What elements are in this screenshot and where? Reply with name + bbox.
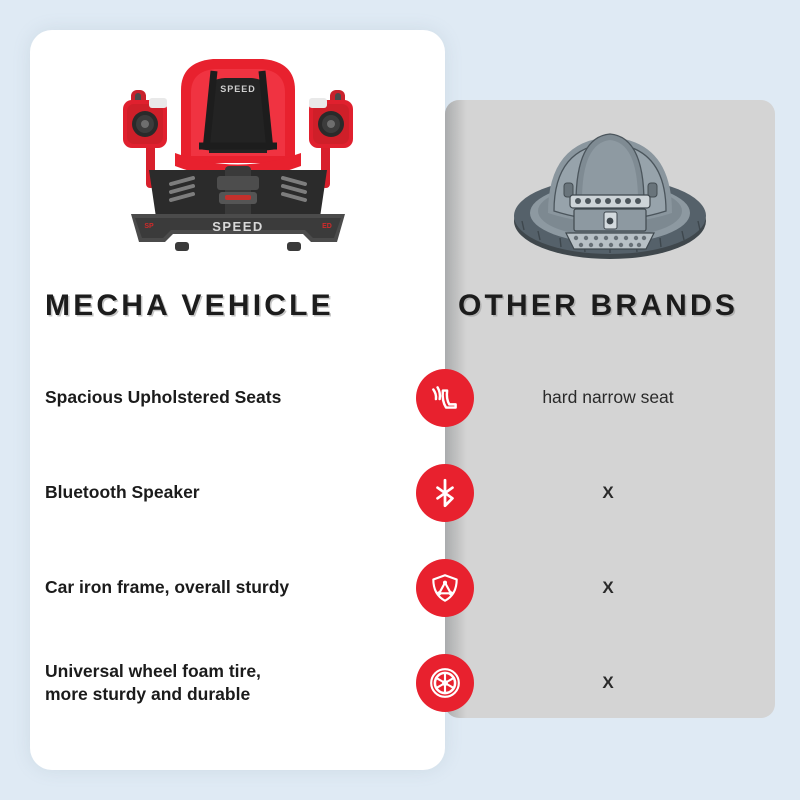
- feature-label-ours: Bluetooth Speaker: [0, 481, 445, 503]
- red-go-kart-front-view-icon: SPEED SPEED SP: [113, 38, 363, 253]
- comparison-graphic: SPEED SPEED SP: [0, 0, 800, 800]
- titles-row: MECHA VEHICLE OTHER BRANDS: [0, 283, 800, 329]
- feature-label-theirs: X: [458, 483, 758, 503]
- feature-label-theirs: X: [458, 673, 758, 693]
- svg-text:SPEED: SPEED: [220, 84, 256, 94]
- competitor-column-title: OTHER BRANDS: [445, 283, 800, 329]
- competitor-image-container: [445, 38, 775, 276]
- feature-label-ours: Spacious Upholstered Seats: [0, 386, 445, 408]
- competitor-cell: hard narrow seat: [445, 387, 800, 408]
- feature-label-theirs: hard narrow seat: [458, 387, 758, 408]
- feature-label-ours-line2: more sturdy and durable: [45, 684, 250, 704]
- ventilated-seat-icon: [416, 369, 474, 427]
- feature-label-theirs: X: [458, 578, 758, 598]
- product-image-container: SPEED SPEED SP: [30, 38, 445, 276]
- hero-row: SPEED SPEED SP: [30, 38, 775, 276]
- table-row: Spacious Upholstered Seats hard narrow s…: [0, 350, 800, 445]
- feature-label-ours-line1: Universal wheel foam tire,: [45, 661, 261, 681]
- feature-label-ours: Car iron frame, overall sturdy: [0, 576, 445, 598]
- bluetooth-icon: [416, 464, 474, 522]
- table-row: Bluetooth Speaker X: [0, 445, 800, 540]
- competitor-cell: X: [445, 578, 800, 598]
- svg-text:SPEED: SPEED: [212, 219, 264, 234]
- competitor-cell: X: [445, 483, 800, 503]
- table-row: Universal wheel foam tire, more sturdy a…: [0, 635, 800, 730]
- table-row: Car iron frame, overall sturdy X: [0, 540, 800, 635]
- svg-text:SP: SP: [144, 223, 154, 230]
- competitor-cell: X: [445, 673, 800, 693]
- wheel-tire-icon: [416, 654, 474, 712]
- feature-rows: Spacious Upholstered Seats hard narrow s…: [0, 350, 800, 730]
- grey-bumper-car-sketch-icon: [508, 97, 713, 265]
- feature-label-ours: Universal wheel foam tire, more sturdy a…: [0, 660, 445, 705]
- product-column-title: MECHA VEHICLE: [0, 283, 445, 329]
- shield-frame-icon: [416, 559, 474, 617]
- svg-text:ED: ED: [322, 223, 332, 230]
